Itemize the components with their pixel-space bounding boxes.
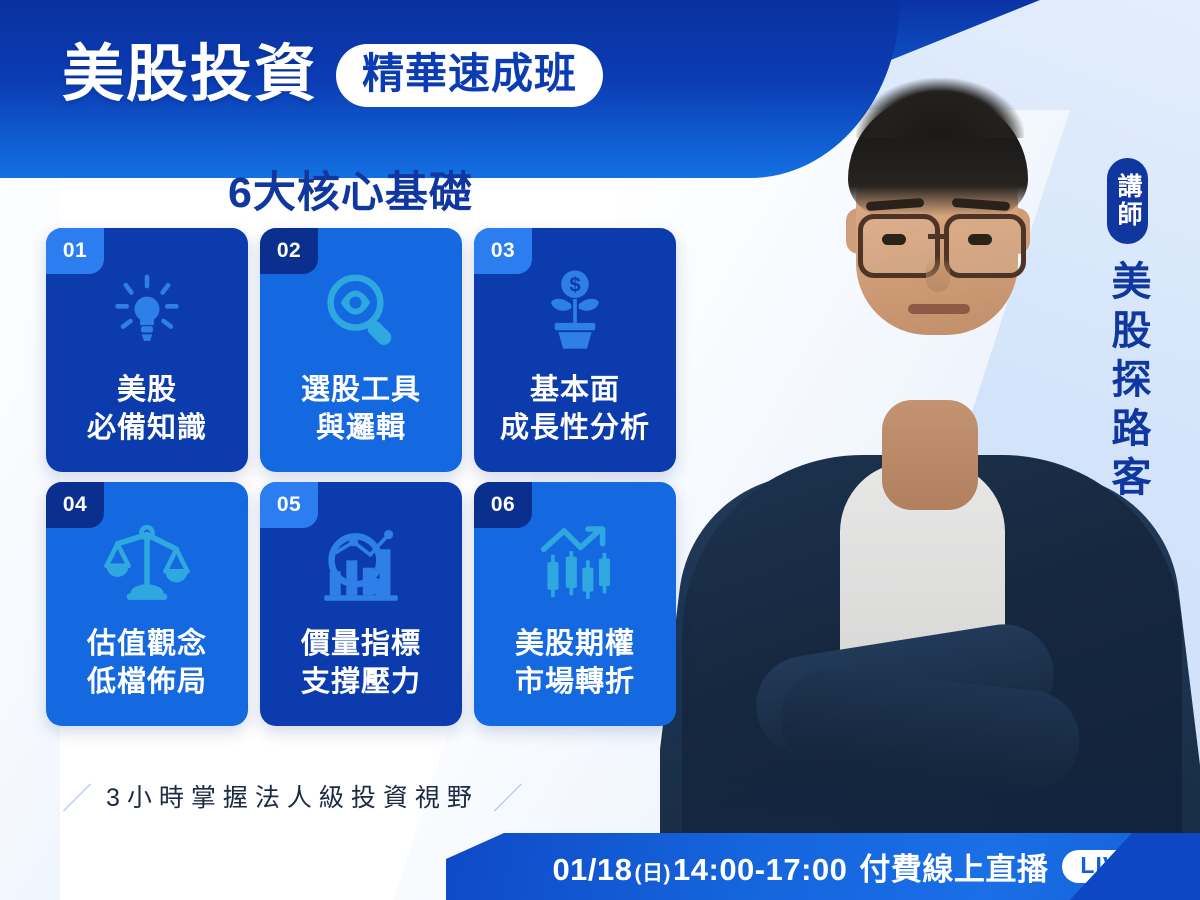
tagline-text: 3小時掌握法人級投資視野	[106, 778, 479, 814]
page-title: 美股投資	[62, 44, 318, 106]
card-title-line1: 估值觀念	[87, 626, 207, 664]
instructor-name: 美股探路客	[1108, 260, 1148, 505]
card-title-line1: 價量指標	[301, 626, 421, 664]
footer-time: 14:00-17:00	[673, 852, 847, 888]
slash-left-decoration: ／	[62, 774, 92, 818]
card-title: 美股 必備知識	[87, 372, 207, 447]
feature-card-06[interactable]: 06 美股	[474, 482, 676, 726]
feature-card-03[interactable]: 03 $ 基本面 成長性分析	[474, 228, 676, 472]
money-plant-icon: $	[527, 262, 623, 358]
footer-weekday: (日)	[635, 857, 672, 887]
card-title: 估值觀念 低檔佈局	[87, 626, 207, 701]
card-number-badge: 06	[474, 482, 532, 528]
card-title-line2: 低檔佈局	[87, 664, 207, 702]
feature-card-02[interactable]: 02 選股工具 與邏輯	[260, 228, 462, 472]
footer-schedule: 01/18(日)14:00-17:00 付費線上直播	[552, 844, 1048, 889]
footer-mode: 付費線上直播	[859, 844, 1048, 889]
chart-magnifier-icon	[313, 516, 409, 612]
card-number-badge: 01	[46, 228, 104, 274]
feature-card-grid: 01 美股	[46, 228, 676, 726]
card-number-badge: 05	[260, 482, 318, 528]
slash-right-decoration: ／	[493, 774, 523, 818]
card-title-line1: 美股	[87, 372, 207, 410]
card-number-badge: 04	[46, 482, 104, 528]
balance-scale-icon	[99, 516, 195, 612]
card-title: 基本面 成長性分析	[500, 372, 650, 447]
card-title-line1: 基本面	[500, 372, 650, 410]
instructor-label-badge: 講師	[1107, 158, 1148, 244]
card-title-line2: 成長性分析	[500, 410, 650, 448]
candlestick-arrow-icon	[527, 516, 623, 612]
feature-card-01[interactable]: 01 美股	[46, 228, 248, 472]
card-number-badge: 03	[474, 228, 532, 274]
feature-card-05[interactable]: 05 價量指標 支撐壓力	[260, 482, 462, 726]
card-number-badge: 02	[260, 228, 318, 274]
card-title-line2: 支撐壓力	[301, 664, 421, 702]
tagline: ／ 3小時掌握法人級投資視野 ／	[62, 774, 523, 818]
magnifier-eye-icon	[313, 262, 409, 358]
title-badge-pill: 精華速成班	[336, 44, 603, 107]
card-title: 美股期權 市場轉折	[515, 626, 635, 701]
instructor-block: 講師 美股探路客	[1107, 158, 1148, 505]
card-title-line1: 選股工具	[301, 372, 421, 410]
lightbulb-icon	[99, 262, 195, 358]
card-title: 價量指標 支撐壓力	[301, 626, 421, 701]
section-subtitle: 6大核心基礎	[228, 158, 473, 220]
card-title-line2: 與邏輯	[301, 410, 421, 448]
footer-date: 01/18	[552, 852, 632, 888]
card-title-line2: 必備知識	[87, 410, 207, 448]
svg-text:$: $	[569, 275, 580, 297]
poster-canvas: 美股投資 精華速成班 6大核心基礎 01	[0, 0, 1200, 900]
card-title: 選股工具 與邏輯	[301, 372, 421, 447]
card-title-line2: 市場轉折	[515, 664, 635, 702]
feature-card-04[interactable]: 04 估值觀念 低檔佈局	[46, 482, 248, 726]
card-title-line1: 美股期權	[515, 626, 635, 664]
